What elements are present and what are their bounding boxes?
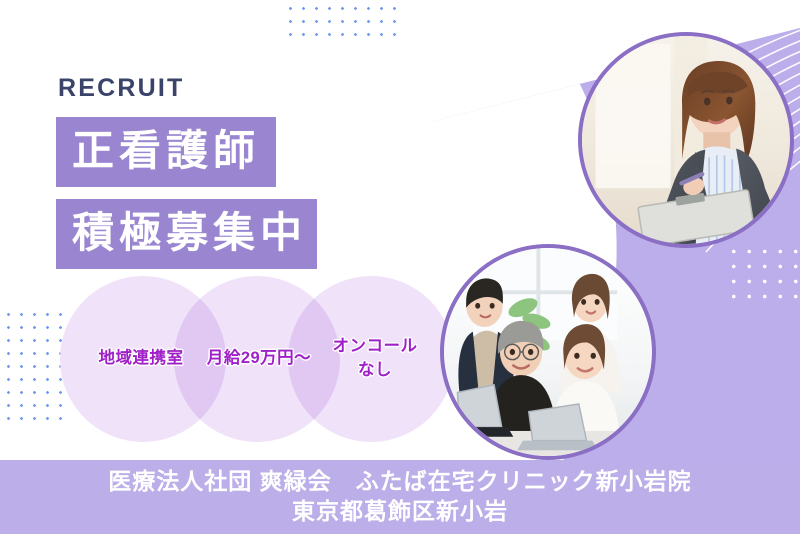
recruit-banner: RECRUIT 正看護師 積極募集中 地域連携室 月給29万円〜 オンコール な… <box>0 0 800 534</box>
photo-nurse-with-clipboard <box>578 32 794 248</box>
benefit-label-oncall: オンコール なし <box>292 276 458 442</box>
photo-team-at-laptops-image <box>444 248 652 456</box>
recruiting-status-box: 積極募集中 <box>56 199 317 269</box>
clinic-info-bar: 医療法人社団 爽緑会 ふたば在宅クリニック新小岩院 東京都葛飾区新小岩 <box>0 460 800 534</box>
benefit-label-oncall-line1: オンコール <box>333 337 418 355</box>
job-title-box: 正看護師 <box>56 117 276 187</box>
dot-grid-top-icon <box>284 2 406 44</box>
clinic-name: 医療法人社団 爽緑会 ふたば在宅クリニック新小岩院 <box>108 467 691 497</box>
benefit-label-oncall-line2: なし <box>358 361 392 379</box>
benefit-circles: 地域連携室 月給29万円〜 オンコール なし <box>0 276 470 446</box>
headline-block: RECRUIT 正看護師 積極募集中 <box>56 76 317 269</box>
recruit-eyebrow: RECRUIT <box>58 76 317 101</box>
clinic-address: 東京都葛飾区新小岩 <box>292 497 508 527</box>
photo-nurse-with-clipboard-image <box>582 36 790 244</box>
photo-team-at-laptops <box>440 244 656 460</box>
dot-grid-right-icon <box>726 244 800 306</box>
